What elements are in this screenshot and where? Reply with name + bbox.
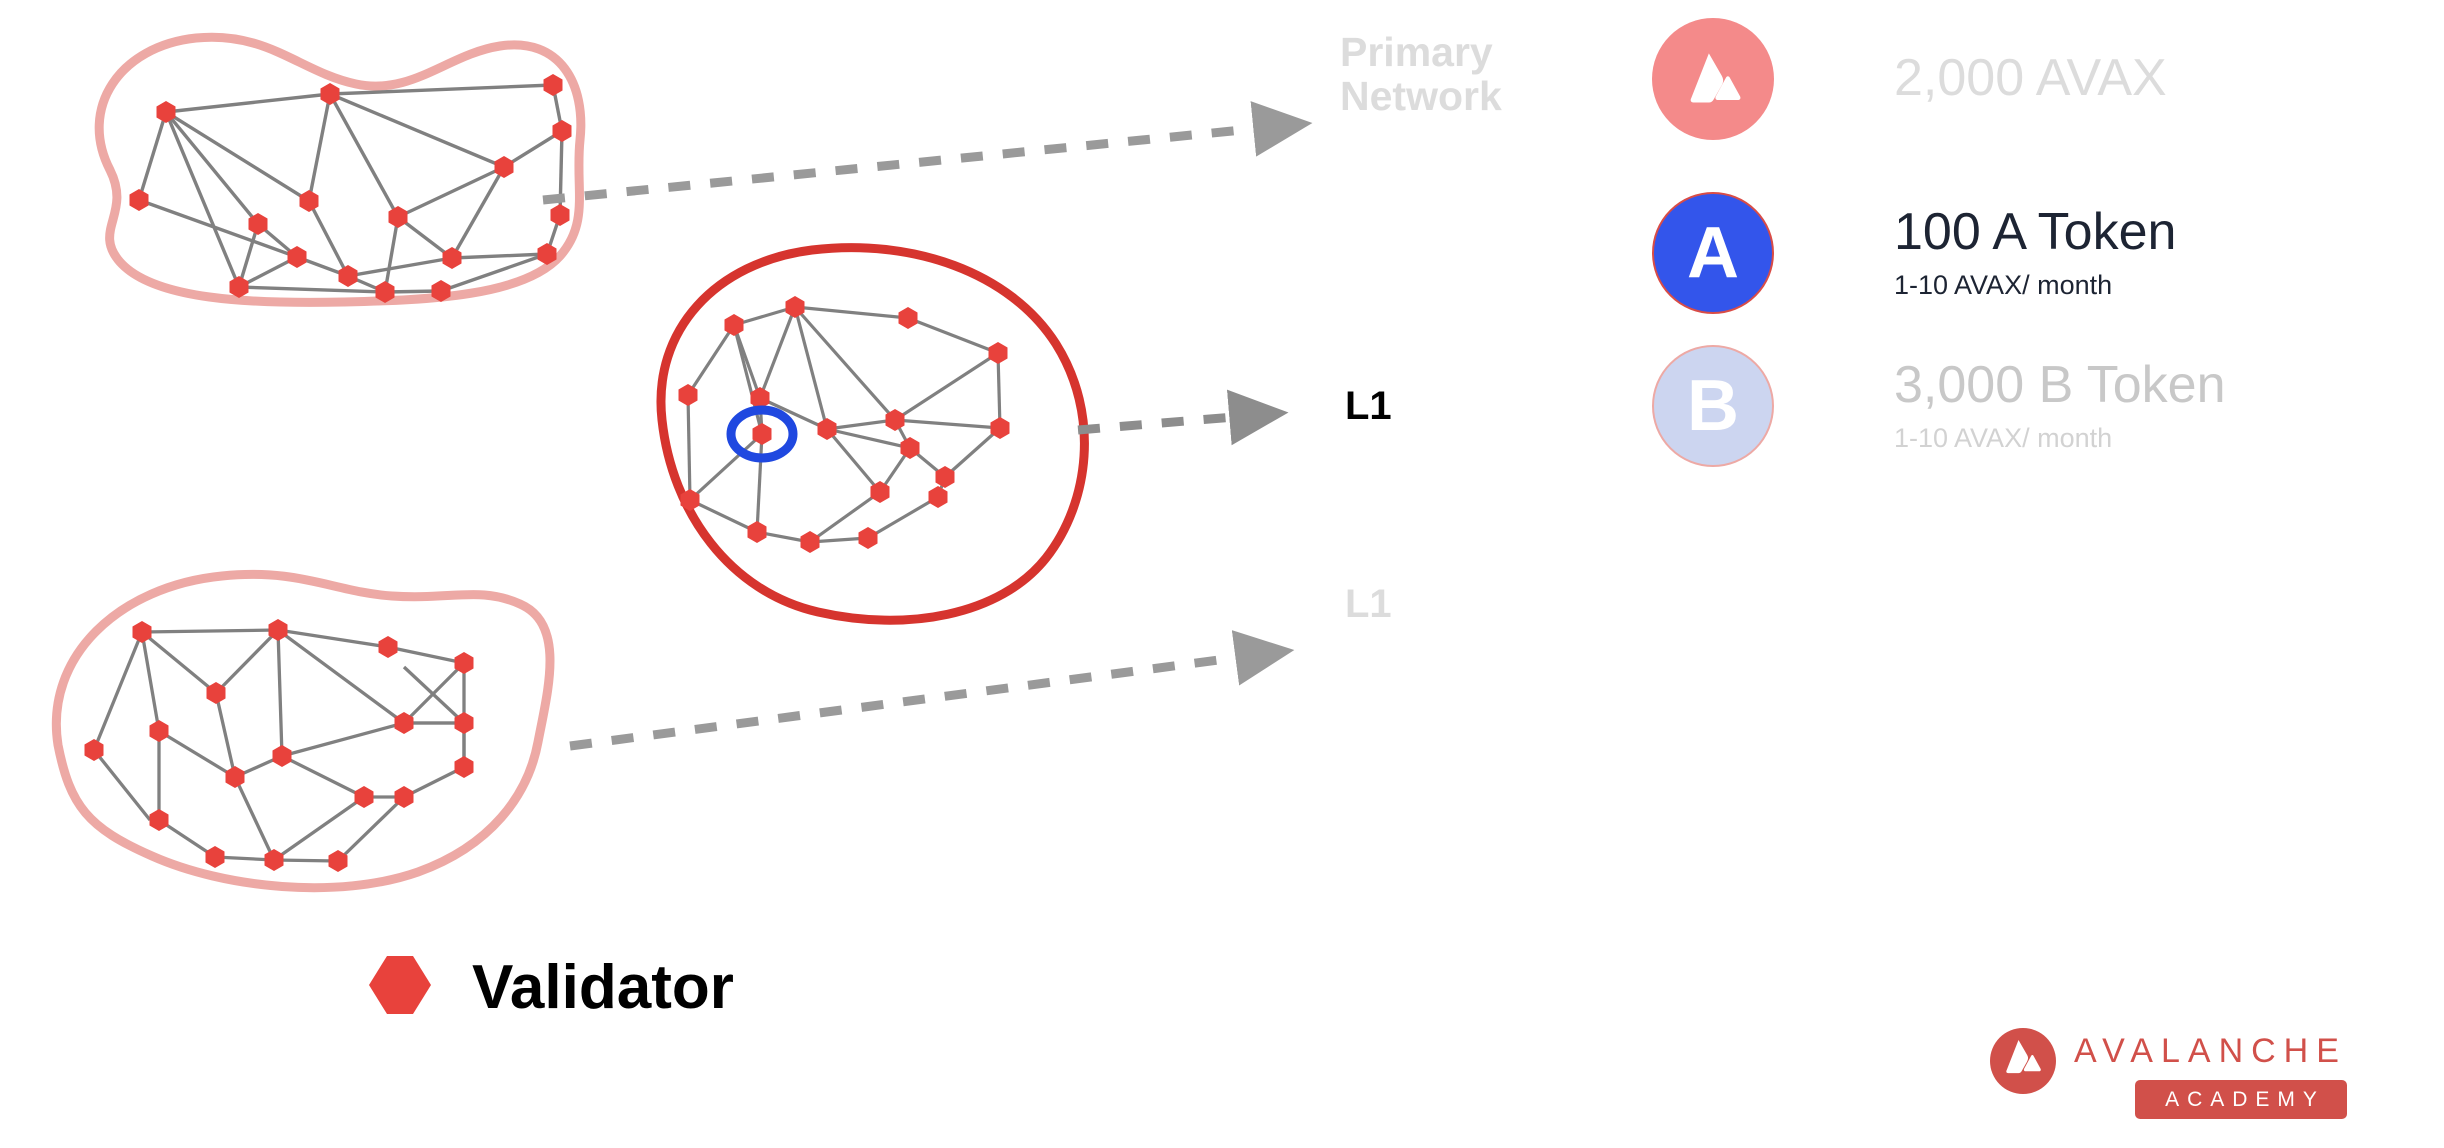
label-primary-network: Primary Network [1340, 30, 1502, 119]
diagram-vector-layer [0, 0, 2444, 1148]
cluster-primary-network [99, 37, 581, 303]
staking-amount-token-b: 3,000 B Token [1894, 358, 2226, 413]
arrow-to-l1-a [1078, 415, 1258, 430]
staking-row-primary-network: 2,000 AVAX [1652, 18, 2167, 140]
avalanche-circle-logo-icon [1990, 1028, 2056, 1099]
label-l1-active: L1 [1345, 385, 1392, 428]
brand-name: AVALANCHE [2074, 1028, 2347, 1068]
arrow-to-primary-network [543, 126, 1282, 200]
staking-fee-token-b: 1-10 AVAX/ month [1894, 422, 2226, 454]
token-b-letter: B [1687, 370, 1739, 442]
connector-arrows [543, 126, 1282, 746]
brand-sub: ACADEMY [2135, 1080, 2347, 1119]
staking-row-token-b: B 3,000 B Token 1-10 AVAX/ month [1652, 345, 2226, 467]
staking-amount-primary: 2,000 AVAX [1894, 51, 2167, 106]
token-b-icon: B [1652, 345, 1774, 467]
hexagon-icon [368, 954, 432, 1021]
cluster-edges-primary [139, 85, 562, 292]
staking-row-token-a-text: 100 A Token 1-10 AVAX/ month [1894, 205, 2176, 302]
brand-wordmark: AVALANCHE ACADEMY [2074, 1028, 2347, 1119]
token-a-letter: A [1687, 217, 1739, 289]
label-l1-muted: L1 [1345, 583, 1392, 626]
staking-row-token-b-text: 3,000 B Token 1-10 AVAX/ month [1894, 358, 2226, 455]
staking-amount-token-a: 100 A Token [1894, 205, 2176, 260]
arrow-to-l1-b [570, 654, 1264, 746]
cluster-outline-l1-a [661, 248, 1084, 621]
cluster-edges-l1-b [94, 630, 464, 861]
diagram-canvas: Primary Network L1 L1 2,000 AVAX A 100 A… [0, 0, 2444, 1148]
legend-label: Validator [472, 952, 734, 1023]
avalanche-academy-logo: AVALANCHE ACADEMY [1990, 1028, 2347, 1119]
avalanche-logo-icon [1652, 18, 1774, 140]
staking-row-token-a: A 100 A Token 1-10 AVAX/ month [1652, 192, 2176, 314]
staking-fee-token-a: 1-10 AVAX/ month [1894, 269, 2176, 301]
cluster-l1-a [661, 248, 1084, 621]
staking-row-primary-text: 2,000 AVAX [1894, 51, 2167, 106]
cluster-l1-b [56, 574, 550, 887]
legend: Validator [368, 952, 734, 1023]
token-a-icon: A [1652, 192, 1774, 314]
